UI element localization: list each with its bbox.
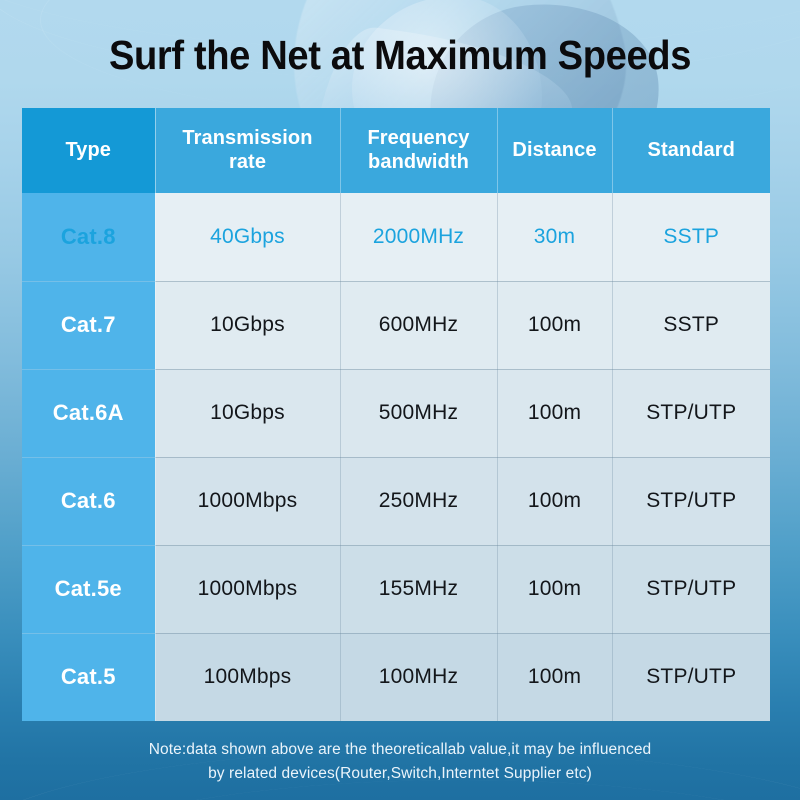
page-title: Surf the Net at Maximum Speeds <box>28 32 772 79</box>
cell-type: Cat.5 <box>22 633 155 721</box>
promo-page: Surf the Net at Maximum Speeds Type Tran… <box>0 0 800 800</box>
footnote: Note:data shown above are the theoretica… <box>0 738 800 786</box>
cable-comparison-table: Type Transmission rate Frequency bandwid… <box>22 108 770 721</box>
cell-frequency-bandwidth: 600MHz <box>340 281 497 369</box>
table-row: Cat.5e 1000Mbps 155MHz 100m STP/UTP <box>22 545 770 633</box>
cell-type: Cat.8 <box>22 193 155 281</box>
cell-standard: SSTP <box>612 281 770 369</box>
cell-type: Cat.5e <box>22 545 155 633</box>
cell-transmission-rate: 1000Mbps <box>155 545 340 633</box>
cell-transmission-rate: 10Gbps <box>155 281 340 369</box>
table-header: Type Transmission rate Frequency bandwid… <box>22 108 770 193</box>
table-row: Cat.6A 10Gbps 500MHz 100m STP/UTP <box>22 369 770 457</box>
cell-distance: 100m <box>497 545 612 633</box>
cell-standard: STP/UTP <box>612 633 770 721</box>
table-row: Cat.5 100Mbps 100MHz 100m STP/UTP <box>22 633 770 721</box>
cell-transmission-rate: 1000Mbps <box>155 457 340 545</box>
cell-distance: 100m <box>497 369 612 457</box>
column-header-freq-line1: Frequency <box>367 127 469 149</box>
table-row: Cat.8 40Gbps 2000MHz 30m SSTP <box>22 193 770 281</box>
column-header-frequency-bandwidth: Frequency bandwidth <box>340 108 497 193</box>
cell-frequency-bandwidth: 2000MHz <box>340 193 497 281</box>
cell-transmission-rate: 10Gbps <box>155 369 340 457</box>
column-header-rate-line2: rate <box>229 151 266 173</box>
column-header-transmission-rate: Transmission rate <box>155 108 340 193</box>
footnote-line-2: by related devices(Router,Switch,Internt… <box>0 762 800 786</box>
column-header-distance: Distance <box>497 108 612 193</box>
cell-standard: STP/UTP <box>612 545 770 633</box>
cell-type: Cat.6A <box>22 369 155 457</box>
cell-frequency-bandwidth: 100MHz <box>340 633 497 721</box>
cell-distance: 30m <box>497 193 612 281</box>
cell-frequency-bandwidth: 250MHz <box>340 457 497 545</box>
cell-frequency-bandwidth: 500MHz <box>340 369 497 457</box>
cell-type: Cat.7 <box>22 281 155 369</box>
footnote-line-1: Note:data shown above are the theoretica… <box>0 738 800 762</box>
cell-distance: 100m <box>497 281 612 369</box>
cell-standard: SSTP <box>612 193 770 281</box>
table-body: Cat.8 40Gbps 2000MHz 30m SSTP Cat.7 10Gb… <box>22 193 770 721</box>
column-header-standard-label: Standard <box>648 139 735 161</box>
cell-distance: 100m <box>497 457 612 545</box>
cell-type: Cat.6 <box>22 457 155 545</box>
cell-distance: 100m <box>497 633 612 721</box>
cell-standard: STP/UTP <box>612 369 770 457</box>
cell-transmission-rate: 100Mbps <box>155 633 340 721</box>
column-header-freq-line2: bandwidth <box>368 151 469 173</box>
column-header-type-label: Type <box>65 139 111 161</box>
cell-standard: STP/UTP <box>612 457 770 545</box>
table-row: Cat.6 1000Mbps 250MHz 100m STP/UTP <box>22 457 770 545</box>
column-header-standard: Standard <box>612 108 770 193</box>
cell-transmission-rate: 40Gbps <box>155 193 340 281</box>
table-header-row: Type Transmission rate Frequency bandwid… <box>22 108 770 193</box>
table-row: Cat.7 10Gbps 600MHz 100m SSTP <box>22 281 770 369</box>
column-header-type: Type <box>22 108 155 193</box>
column-header-distance-label: Distance <box>512 139 596 161</box>
cell-frequency-bandwidth: 155MHz <box>340 545 497 633</box>
column-header-rate-line1: Transmission <box>182 127 312 149</box>
